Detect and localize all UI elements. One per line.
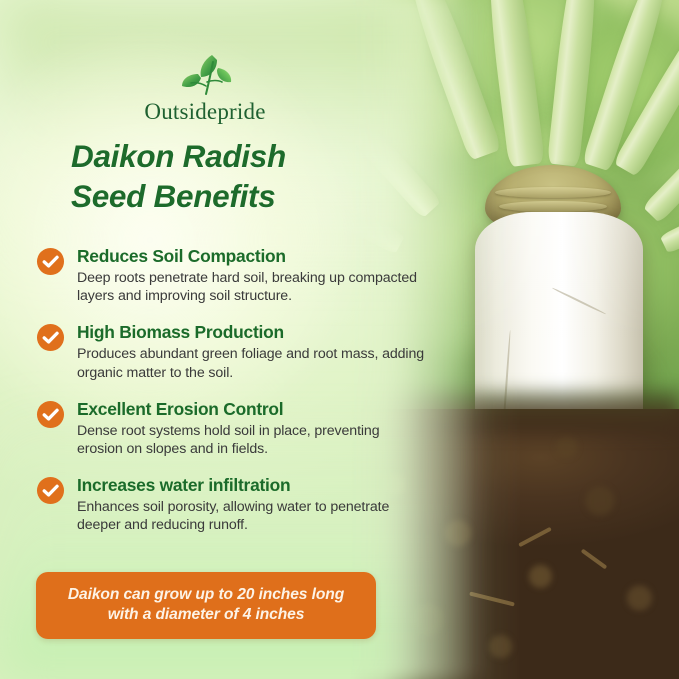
brand-logo: Outsidepride [140,52,270,123]
benefit-text: Increases water infiltration Enhances so… [77,475,426,534]
benefit-item: Excellent Erosion Control Dense root sys… [36,399,426,458]
benefit-title: Increases water infiltration [77,475,426,495]
check-circle-icon [36,400,65,429]
benefit-text: Reduces Soil Compaction Deep roots penet… [77,246,426,305]
check-circle-icon [36,247,65,276]
infographic-root: Outsidepride Daikon Radish Seed Benefits… [0,0,679,679]
benefit-title: High Biomass Production [77,322,426,342]
benefit-text: High Biomass Production Produces abundan… [77,322,426,381]
benefit-description: Dense root systems hold soil in place, p… [77,422,426,458]
check-circle-icon [36,323,65,352]
benefit-text: Excellent Erosion Control Dense root sys… [77,399,426,458]
fact-banner: Daikon can grow up to 20 inches long wit… [36,572,376,639]
fact-banner-line2: with a diameter of 4 inches [52,605,360,625]
benefit-item: High Biomass Production Produces abundan… [36,322,426,381]
fact-banner-line1: Daikon can grow up to 20 inches long [68,586,344,603]
page-title-line1: Daikon Radish [71,138,286,174]
page-title-line2: Seed Benefits [71,176,401,216]
soil-twig-3 [581,549,608,570]
soil-twig-1 [518,527,552,547]
page-title: Daikon Radish Seed Benefits [71,136,401,217]
radish-crown-ring-2 [499,201,607,212]
benefit-title: Excellent Erosion Control [77,399,426,419]
leaf-sprout-icon [174,52,236,104]
check-circle-icon [36,476,65,505]
benefit-item: Increases water infiltration Enhances so… [36,475,426,534]
benefit-description: Enhances soil porosity, allowing water t… [77,498,426,534]
radish-crown-ring-1 [495,187,611,198]
benefits-list: Reduces Soil Compaction Deep roots penet… [36,246,426,551]
benefit-description: Deep roots penetrate hard soil, breaking… [77,269,426,305]
benefit-title: Reduces Soil Compaction [77,246,426,266]
benefit-description: Produces abundant green foliage and root… [77,345,426,381]
benefit-item: Reduces Soil Compaction Deep roots penet… [36,246,426,305]
brand-name: Outsidepride [140,100,270,123]
